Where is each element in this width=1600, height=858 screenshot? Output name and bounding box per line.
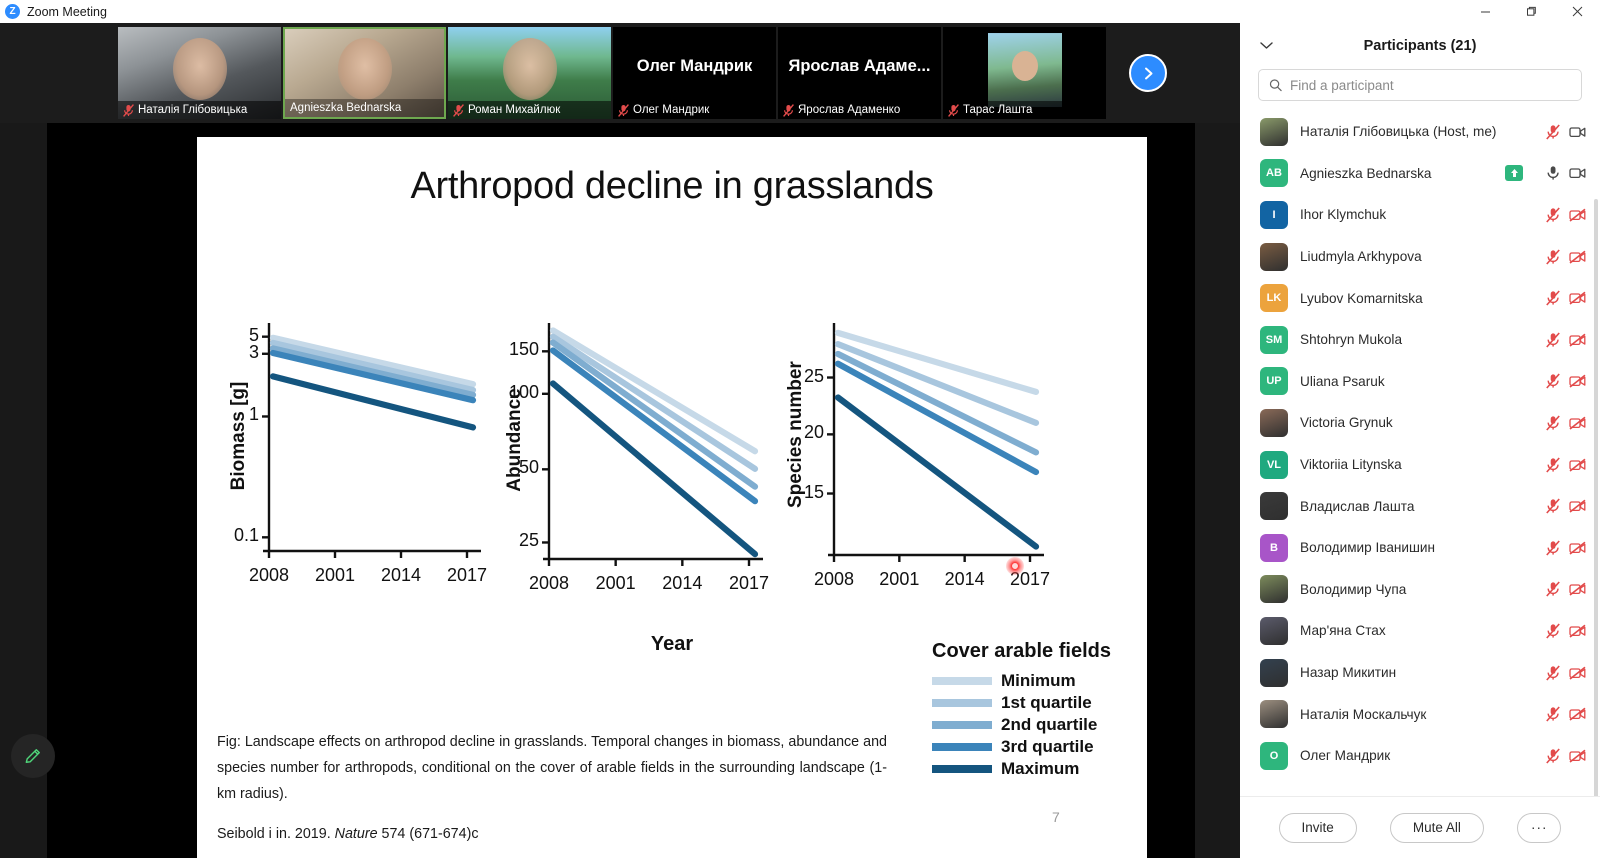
avatar: VL <box>1260 451 1288 479</box>
video-tile[interactable]: Тарас Лашта <box>943 27 1106 119</box>
camera-off-icon[interactable] <box>1569 250 1586 264</box>
mic-muted-icon[interactable] <box>1546 124 1560 140</box>
participant-status-icons <box>1546 124 1586 140</box>
close-icon <box>1572 6 1583 17</box>
legend-swatch <box>932 721 992 729</box>
camera-on-icon[interactable] <box>1569 125 1586 139</box>
mic-muted-icon[interactable] <box>1546 249 1560 265</box>
series-line <box>273 348 473 394</box>
x-tick-label: 2001 <box>308 565 362 586</box>
window-title: Zoom Meeting <box>27 5 107 19</box>
x-tick-label: 2014 <box>938 569 992 590</box>
y-tick-label: 25 <box>491 530 539 551</box>
mic-muted-icon[interactable] <box>1546 290 1560 306</box>
mic-muted-icon <box>948 104 959 117</box>
participant-name: Shtohryn Mukola <box>1300 332 1534 347</box>
participant-status-icons <box>1546 748 1586 764</box>
participant-row[interactable]: VLViktoriia Litynska <box>1240 444 1600 486</box>
y-axis-label: Abundance <box>504 370 526 510</box>
chart-panel: 15010050252008200120142017Abundance <box>487 315 787 605</box>
participant-status-icons <box>1546 207 1586 223</box>
legend-swatch <box>932 765 992 773</box>
avatar <box>1260 575 1288 603</box>
window-controls <box>1462 0 1600 23</box>
tile-name-label: Наталія Глібовицька <box>118 101 281 119</box>
minimize-button[interactable] <box>1462 0 1508 23</box>
participant-status-icons <box>1546 623 1586 639</box>
participant-row[interactable]: Liudmyla Arkhypova <box>1240 236 1600 278</box>
participant-name: Liudmyla Arkhypova <box>1300 249 1534 264</box>
zoom-logo-glyph: Z <box>9 7 15 17</box>
participant-name: Victoria Grynuk <box>1300 415 1534 430</box>
video-filmstrip: Наталія ГлібовицькаAgnieszka BednarskaРо… <box>0 23 1240 123</box>
participant-row[interactable]: SMShtohryn Mukola <box>1240 319 1600 361</box>
camera-off-icon[interactable] <box>1569 666 1586 680</box>
invite-button[interactable]: Invite <box>1279 813 1357 843</box>
raise-hand-badge[interactable] <box>1505 165 1523 181</box>
participant-status-icons <box>1546 540 1586 556</box>
annotate-button[interactable] <box>11 734 55 778</box>
video-tile[interactable]: Agnieszka Bednarska <box>283 27 446 119</box>
participant-name: Ihor Klymchuk <box>1300 207 1534 222</box>
x-tick-label: 2014 <box>374 565 428 586</box>
legend-item: 3rd quartile <box>932 737 1142 757</box>
legend-label: 3rd quartile <box>1001 737 1094 757</box>
participant-name: Назар Микитин <box>1300 665 1534 680</box>
y-axis-label: Species number <box>785 368 807 508</box>
camera-off-icon[interactable] <box>1569 374 1586 388</box>
camera-off-icon[interactable] <box>1569 582 1586 596</box>
video-tile[interactable]: Ярослав Адаме...Ярослав Адаменко <box>778 27 941 119</box>
shared-screen-stage: Arthropod decline in grasslands 5310.120… <box>0 123 1240 858</box>
figure-panels: 5310.12008200120142017Biomass [g]1501005… <box>197 315 1147 605</box>
tile-name-text: Наталія Глібовицька <box>138 104 247 116</box>
participant-row[interactable]: Владислав Лашта <box>1240 485 1600 527</box>
camera-off-icon[interactable] <box>1569 541 1586 555</box>
citation-journal: Nature <box>335 826 378 842</box>
legend-swatch <box>932 699 992 707</box>
mic-muted-icon <box>453 104 464 117</box>
title-bar: Z Zoom Meeting <box>0 0 1600 23</box>
tile-name-text: Тарас Лашта <box>963 104 1032 116</box>
search-icon <box>1269 78 1282 92</box>
video-tile[interactable]: Олег МандрикОлег Мандрик <box>613 27 776 119</box>
camera-off-icon[interactable] <box>1569 333 1586 347</box>
figure-legend: Cover arable fields Minimum1st quartile2… <box>932 640 1142 781</box>
avatar <box>1260 700 1288 728</box>
participant-row[interactable]: ABAgnieszka Bednarska <box>1240 153 1600 195</box>
video-tile[interactable]: Наталія Глібовицька <box>118 27 281 119</box>
restore-icon <box>1526 6 1537 17</box>
participant-name: Uliana Psaruk <box>1300 374 1534 389</box>
slide-page-number: 7 <box>1052 809 1060 825</box>
series-line <box>838 354 1036 452</box>
mic-muted-icon[interactable] <box>1546 332 1560 348</box>
tile-name-label: Тарас Лашта <box>943 101 1106 119</box>
legend-item: 2nd quartile <box>932 715 1142 735</box>
avatar <box>988 33 1062 107</box>
participant-status-icons <box>1546 498 1586 514</box>
legend-item: 1st quartile <box>932 693 1142 713</box>
tile-name-text: Agnieszka Bednarska <box>290 102 401 114</box>
mic-muted-icon[interactable] <box>1546 706 1560 722</box>
series-line <box>553 350 755 501</box>
more-options-button[interactable]: ··· <box>1517 813 1562 843</box>
legend-label: Minimum <box>1001 671 1076 691</box>
tile-name-label: Олег Мандрик <box>613 101 776 119</box>
video-tile[interactable]: Роман Михайлюк <box>448 27 611 119</box>
participant-status-icons <box>1546 332 1586 348</box>
participant-status-icons <box>1546 290 1586 306</box>
camera-on-icon[interactable] <box>1569 166 1586 180</box>
series-line <box>553 337 755 469</box>
tile-name-text: Роман Михайлюк <box>468 104 560 116</box>
participant-row[interactable]: Назар Микитин <box>1240 652 1600 694</box>
participant-status-icons <box>1546 706 1586 722</box>
avatar <box>1260 492 1288 520</box>
collapse-panel-button[interactable] <box>1260 37 1273 55</box>
zoom-logo-icon: Z <box>5 4 20 19</box>
legend-label: Maximum <box>1001 759 1079 779</box>
legend-swatch <box>932 743 992 751</box>
mic-muted-icon <box>618 104 629 117</box>
legend-label: 2nd quartile <box>1001 715 1097 735</box>
mic-muted-icon <box>123 104 134 117</box>
tile-name-label: Ярослав Адаменко <box>778 101 941 119</box>
participant-name: Наталія Глібовицька (Host, me) <box>1300 124 1534 139</box>
participant-status-icons <box>1546 581 1586 597</box>
participant-row[interactable]: IIhor Klymchuk <box>1240 194 1600 236</box>
avatar <box>1260 617 1288 645</box>
camera-off-icon[interactable] <box>1569 458 1586 472</box>
participant-row[interactable]: Victoria Grynuk <box>1240 402 1600 444</box>
participant-name: Viktoriia Litynska <box>1300 457 1534 472</box>
slide-citation: Seibold i in. 2019. Nature 574 (671-674)… <box>217 826 479 842</box>
participant-name: Lyubov Komarnitska <box>1300 291 1534 306</box>
participant-name: Agnieszka Bednarska <box>1300 166 1493 181</box>
avatar: AB <box>1260 159 1288 187</box>
laser-pointer-dot <box>1006 557 1024 575</box>
participant-face <box>503 38 557 100</box>
mic-muted-icon[interactable] <box>1546 748 1560 764</box>
avatar <box>1260 659 1288 687</box>
participant-row[interactable]: Володимир Чупа <box>1240 569 1600 611</box>
mic-muted-icon[interactable] <box>1546 498 1560 514</box>
chart-panel: 5310.12008200120142017Biomass [g] <box>217 315 517 605</box>
mic-muted-icon[interactable] <box>1546 540 1560 556</box>
participant-name: Володимир Іванишин <box>1300 540 1534 555</box>
series-line <box>553 383 755 554</box>
camera-off-icon[interactable] <box>1569 291 1586 305</box>
avatar: SM <box>1260 326 1288 354</box>
avatar <box>1260 409 1288 437</box>
participant-face <box>338 38 392 100</box>
chart-svg <box>217 315 517 605</box>
minimize-icon <box>1480 6 1491 17</box>
x-tick-label: 2008 <box>807 569 861 590</box>
y-tick-label: 0.1 <box>211 525 259 546</box>
figure-caption: Fig: Landscape effects on arthropod decl… <box>217 729 887 807</box>
participant-status-icons <box>1546 415 1586 431</box>
camera-off-icon[interactable] <box>1569 624 1586 638</box>
avatar <box>1260 243 1288 271</box>
participant-row[interactable]: ООлег Мандрик <box>1240 735 1600 777</box>
participants-header: Participants (21) <box>1240 23 1600 69</box>
mic-muted-icon[interactable] <box>1546 373 1560 389</box>
y-axis-label: Biomass [g] <box>228 366 250 506</box>
mic-muted-icon[interactable] <box>1546 207 1560 223</box>
pencil-icon <box>23 746 43 766</box>
participant-face <box>173 38 227 100</box>
citation-pre: Seibold i in. 2019. <box>217 826 335 842</box>
participant-name: Наталія Москальчук <box>1300 707 1534 722</box>
citation-post: 574 (671-674)c <box>378 826 479 842</box>
x-tick-label: 2008 <box>522 573 576 594</box>
participant-row[interactable]: Наталія Москальчук <box>1240 693 1600 735</box>
participants-title: Participants (21) <box>1240 38 1600 54</box>
series-line <box>553 330 755 451</box>
avatar: LK <box>1260 284 1288 312</box>
presentation-slide: Arthropod decline in grasslands 5310.120… <box>197 137 1147 858</box>
participants-footer: Invite Mute All ··· <box>1240 796 1600 858</box>
x-tick-label: 2014 <box>655 573 709 594</box>
mic-muted-icon[interactable] <box>1546 415 1560 431</box>
participants-scrollbar[interactable] <box>1594 199 1598 796</box>
mic-muted-icon[interactable] <box>1546 581 1560 597</box>
participant-name: Володимир Чупа <box>1300 582 1534 597</box>
camera-off-icon[interactable] <box>1569 749 1586 763</box>
participant-status-icons <box>1546 249 1586 265</box>
participant-status-icons <box>1546 665 1586 681</box>
legend-label: 1st quartile <box>1001 693 1092 713</box>
participant-name: Владислав Лашта <box>1300 499 1534 514</box>
tile-name-text: Олег Мандрик <box>633 104 709 116</box>
avatar: I <box>1260 201 1288 229</box>
participant-row[interactable]: Наталія Глібовицька (Host, me) <box>1240 111 1600 153</box>
legend-title: Cover arable fields <box>932 640 1142 663</box>
legend-item: Maximum <box>932 759 1142 779</box>
tile-name-label: Agnieszka Bednarska <box>285 99 444 117</box>
mic-muted-icon[interactable] <box>1546 457 1560 473</box>
maximize-button[interactable] <box>1508 0 1554 23</box>
search-box[interactable] <box>1258 69 1582 101</box>
x-tick-label: 2001 <box>589 573 643 594</box>
chevron-right-icon <box>1140 65 1157 82</box>
x-tick-label: 2008 <box>242 565 296 586</box>
mic-muted-icon[interactable] <box>1546 623 1560 639</box>
mute-all-button[interactable]: Mute All <box>1390 813 1484 843</box>
participants-search-wrap <box>1240 69 1600 111</box>
legend-item: Minimum <box>932 671 1142 691</box>
participants-panel: Participants (21) Наталія Глібовицька (H… <box>1240 23 1600 858</box>
mic-muted-icon <box>783 104 794 117</box>
tile-name-text: Ярослав Адаменко <box>798 104 900 116</box>
legend-swatch <box>932 677 992 685</box>
search-input[interactable] <box>1290 78 1571 93</box>
close-button[interactable] <box>1554 0 1600 23</box>
tile-name-label: Роман Михайлюк <box>448 101 611 119</box>
share-letterbox: Arthropod decline in grasslands 5310.120… <box>47 123 1195 858</box>
participant-status-icons <box>1546 457 1586 473</box>
participant-status-icons <box>1546 373 1586 389</box>
x-tick-label: 2017 <box>440 565 494 586</box>
camera-off-icon[interactable] <box>1569 707 1586 721</box>
participant-status-icons <box>1505 165 1586 181</box>
mic-on-icon[interactable] <box>1546 165 1560 181</box>
arrow-up-icon <box>1510 168 1519 178</box>
camera-off-icon[interactable] <box>1569 208 1586 222</box>
participant-row[interactable]: ВВолодимир Іванишин <box>1240 527 1600 569</box>
participant-name: Мар'яна Стах <box>1300 623 1534 638</box>
participant-row[interactable]: LKLyubov Komarnitska <box>1240 277 1600 319</box>
avatar: В <box>1260 534 1288 562</box>
mic-muted-icon[interactable] <box>1546 665 1560 681</box>
participant-name: Олег Мандрик <box>1300 748 1534 763</box>
camera-off-icon[interactable] <box>1569 416 1586 430</box>
filmstrip-next-button[interactable] <box>1129 54 1167 92</box>
camera-off-icon[interactable] <box>1569 499 1586 513</box>
y-tick-label: 3 <box>211 342 259 363</box>
avatar: О <box>1260 742 1288 770</box>
avatar: UP <box>1260 367 1288 395</box>
x-tick-label: 2001 <box>872 569 926 590</box>
avatar <box>1260 118 1288 146</box>
participant-row[interactable]: Мар'яна Стах <box>1240 610 1600 652</box>
chart-panel: 2520152008200120142017Species number <box>762 315 1082 605</box>
slide-title: Arthropod decline in grasslands <box>197 165 1147 208</box>
y-tick-label: 150 <box>491 339 539 360</box>
participants-list[interactable]: Наталія Глібовицька (Host, me)ABAgnieszk… <box>1240 111 1600 796</box>
participant-row[interactable]: UPUliana Psaruk <box>1240 361 1600 403</box>
chevron-down-icon <box>1260 41 1273 50</box>
